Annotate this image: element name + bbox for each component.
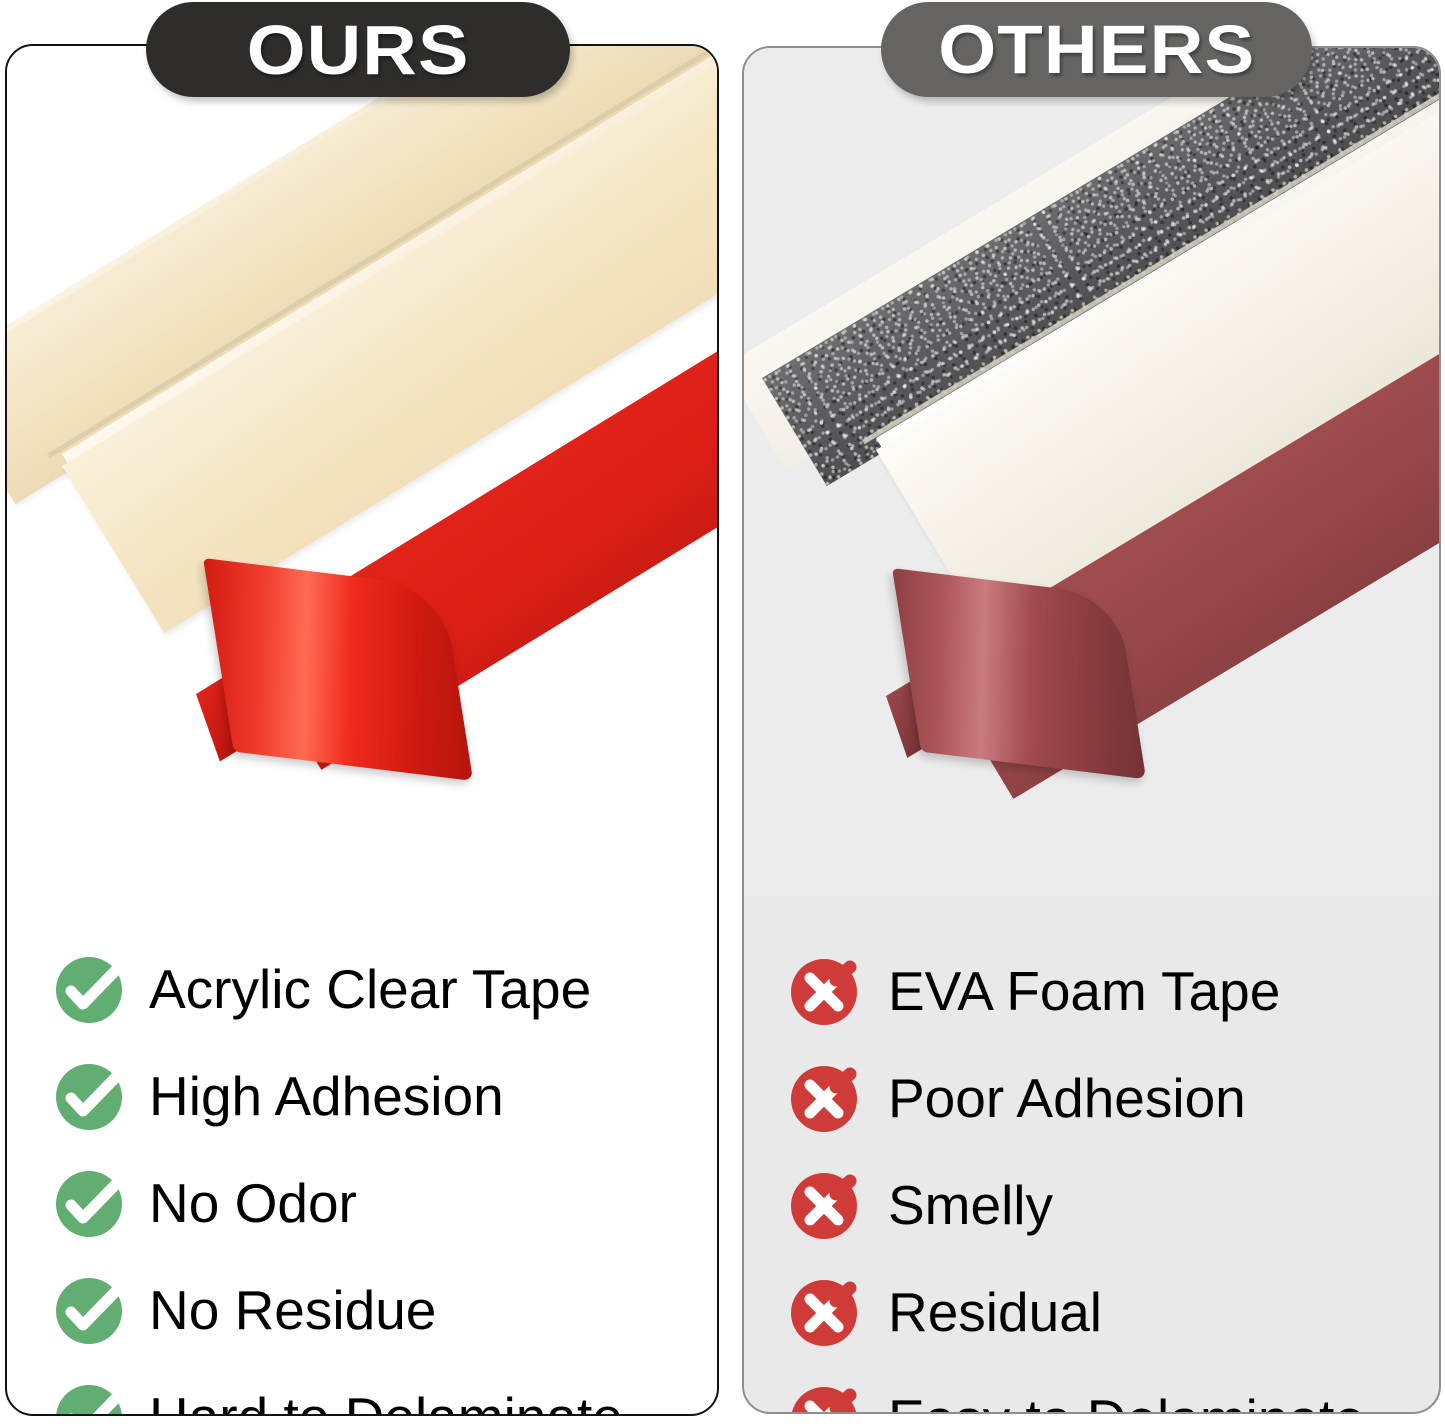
list-item: Hard to Delaminate — [7, 1364, 717, 1416]
x-circle-icon — [786, 954, 862, 1030]
check-circle-icon — [51, 1273, 127, 1349]
ours-badge-label: OURS — [247, 10, 470, 90]
check-circle-icon — [51, 1059, 127, 1135]
list-item-label: No Residue — [149, 1283, 436, 1338]
list-item: High Adhesion — [7, 1043, 717, 1150]
others-badge-label: OTHERS — [938, 10, 1255, 89]
others-panel: EVA Foam Tape Poor Adhesion — [742, 46, 1441, 1414]
ours-feature-list: Acrylic Clear Tape High Adhesion — [7, 936, 717, 1416]
list-item-label: No Odor — [149, 1176, 357, 1231]
list-item: No Residue — [7, 1257, 717, 1364]
list-item-label: High Adhesion — [149, 1069, 504, 1124]
others-badge: OTHERS — [881, 2, 1312, 97]
list-item: Easy to Delaminate — [744, 1366, 1439, 1414]
list-item-label: Easy to Delaminate — [888, 1392, 1365, 1414]
list-item: Poor Adhesion — [744, 1045, 1439, 1152]
list-item-label: EVA Foam Tape — [888, 964, 1280, 1019]
x-circle-icon — [786, 1275, 862, 1351]
check-circle-icon — [51, 952, 127, 1028]
check-circle-icon — [51, 1380, 127, 1417]
list-item: Acrylic Clear Tape — [7, 936, 717, 1043]
check-circle-icon — [51, 1166, 127, 1242]
ours-product-photo — [7, 46, 717, 894]
list-item: EVA Foam Tape — [744, 938, 1439, 1045]
ours-badge: OURS — [146, 2, 570, 97]
list-item: Residual — [744, 1259, 1439, 1366]
x-circle-icon — [786, 1382, 862, 1415]
list-item-label: Poor Adhesion — [888, 1071, 1246, 1126]
list-item: Smelly — [744, 1152, 1439, 1259]
others-feature-list: EVA Foam Tape Poor Adhesion — [744, 938, 1439, 1414]
list-item-label: Hard to Delaminate — [149, 1390, 623, 1416]
x-circle-icon — [786, 1061, 862, 1137]
others-product-photo — [744, 48, 1439, 896]
list-item: No Odor — [7, 1150, 717, 1257]
list-item-label: Acrylic Clear Tape — [149, 962, 591, 1017]
ours-panel: Acrylic Clear Tape High Adhesion — [5, 44, 719, 1416]
list-item-label: Smelly — [888, 1178, 1053, 1233]
comparison-infographic: Acrylic Clear Tape High Adhesion — [0, 0, 1445, 1426]
x-circle-icon — [786, 1168, 862, 1244]
list-item-label: Residual — [888, 1285, 1102, 1340]
